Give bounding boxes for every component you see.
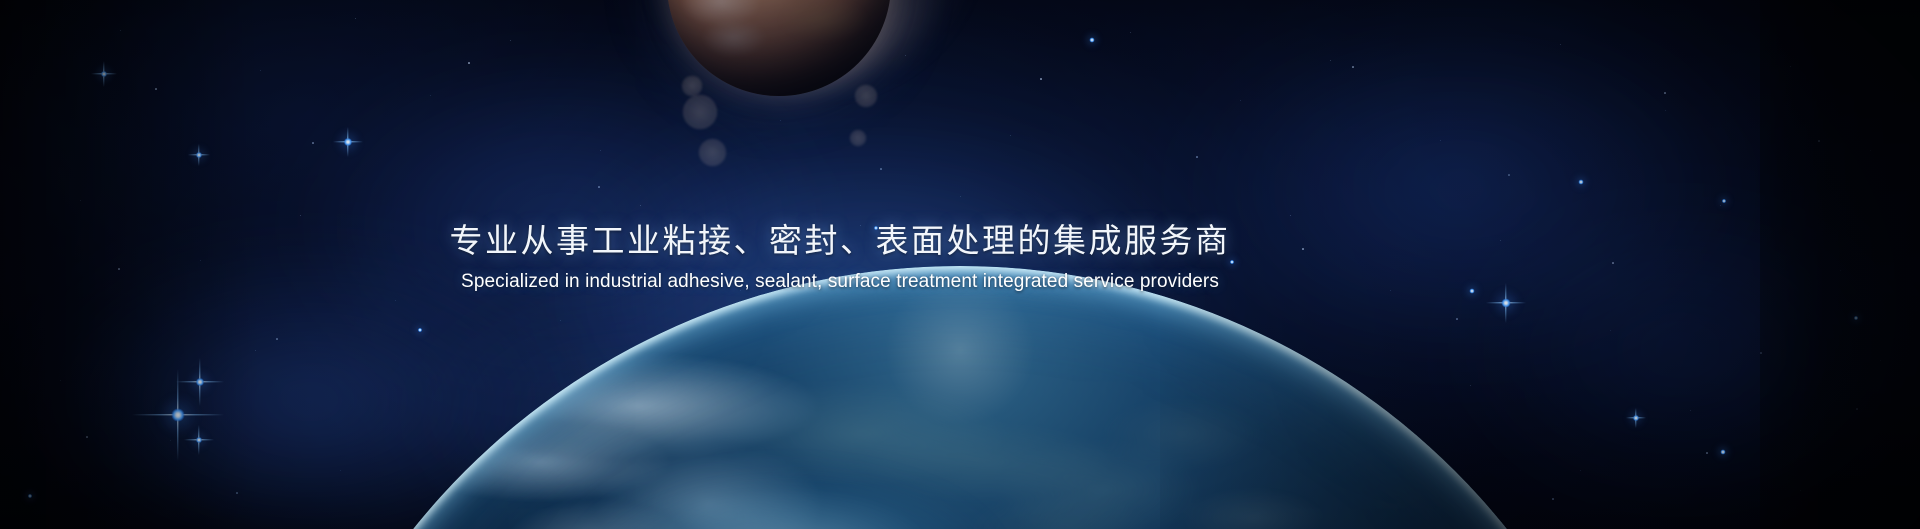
lens-flare-bokeh	[683, 95, 717, 129]
page-subtitle: Specialized in industrial adhesive, seal…	[0, 270, 1680, 294]
page-title: 专业从事工业粘接、密封、表面处理的集成服务商	[0, 222, 1680, 262]
lens-flare-bokeh	[699, 139, 726, 166]
bright-star	[1717, 194, 1731, 208]
bright-star	[1573, 174, 1589, 190]
star-core	[344, 138, 352, 146]
space-hero-banner: 专业从事工业粘接、密封、表面处理的集成服务商 Specialized in in…	[0, 0, 1920, 529]
right-edge-shade	[1760, 0, 1920, 529]
star-core	[1579, 180, 1584, 185]
star-core	[1722, 199, 1726, 203]
star-core	[1721, 450, 1726, 455]
lens-flare-bokeh	[855, 85, 877, 107]
bright-star	[1083, 31, 1101, 49]
hero-text-block: 专业从事工业粘接、密封、表面处理的集成服务商 Specialized in in…	[0, 222, 1680, 294]
bright-star	[333, 127, 363, 157]
lens-flare-bokeh	[850, 130, 866, 146]
star-core	[1090, 38, 1095, 43]
lens-flare-bokeh	[682, 76, 702, 96]
bright-star	[1715, 444, 1731, 460]
